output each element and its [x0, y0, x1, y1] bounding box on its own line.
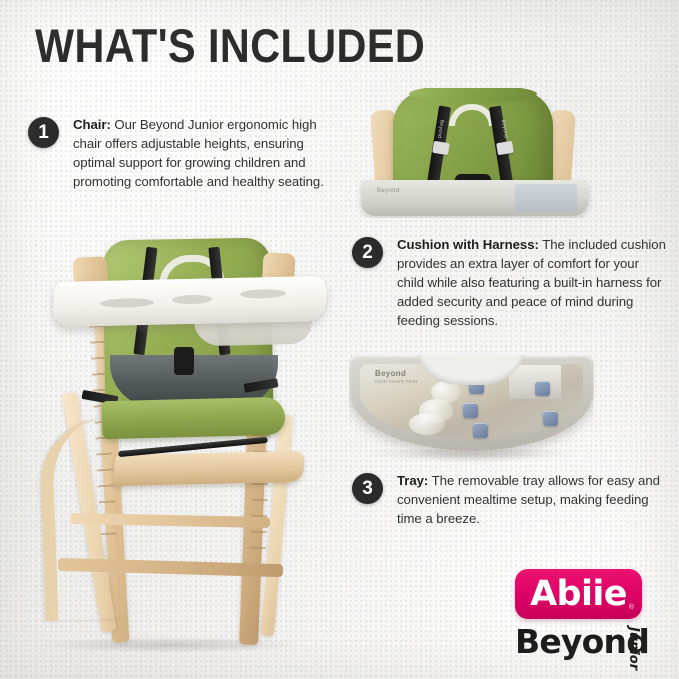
- list-item-text: Cushion with Harness: The included cushi…: [397, 236, 668, 330]
- cushion-harness-buckle-left: [432, 141, 450, 155]
- chair-tray: [53, 276, 326, 327]
- list-item-body: The removable tray allows for easy and c…: [397, 473, 660, 526]
- list-item-lead: Tray:: [397, 473, 428, 488]
- list-item-text: Tray: The removable tray allows for easy…: [397, 472, 662, 529]
- list-item-lead: Chair:: [73, 117, 111, 132]
- page-title: WHAT'S INCLUDED: [35, 22, 425, 69]
- abiie-wordmark: Abiie: [530, 577, 627, 612]
- tray-dimple: [100, 298, 154, 308]
- tray-dimple: [240, 289, 286, 299]
- step-badge-1: 1: [28, 117, 59, 148]
- cushion-with-harness-photo: Beyond Beyond Beyond: [349, 88, 597, 218]
- brand-logo: Abiie ® Beyond Junior: [515, 569, 665, 667]
- tray-brand-text: Beyond: [375, 369, 406, 378]
- cushion-harness-buckle-right: [496, 141, 514, 155]
- abiie-logo-badge: Abiie ®: [515, 569, 642, 619]
- list-item-tray: 3 Tray: The removable tray allows for ea…: [352, 472, 662, 529]
- registered-trademark-mark: ®: [629, 604, 634, 611]
- tray-reflection-icon: [543, 411, 558, 426]
- tray-photo: Beyond HIGH CHAIR TRAY: [349, 355, 594, 465]
- tray-dimple: [172, 294, 212, 304]
- list-item-body: Our Beyond Junior ergonomic high chair o…: [73, 117, 324, 189]
- list-item-lead: Cushion with Harness:: [397, 237, 539, 252]
- list-item-chair: 1 Chair: Our Beyond Junior ergonomic hig…: [28, 116, 340, 192]
- tray-reflection-icon: [463, 403, 478, 418]
- step-badge-3: 3: [352, 473, 383, 504]
- product-line-row: Beyond Junior: [515, 625, 665, 667]
- junior-wordmark: Junior: [626, 627, 641, 670]
- step-badge-2: 2: [352, 237, 383, 268]
- infographic-canvas: WHAT'S INCLUDED: [0, 0, 679, 679]
- tray-reflection-icon: [473, 423, 488, 438]
- chair-harness-crotch-strap: [174, 347, 194, 375]
- tray-brand-subtext: HIGH CHAIR TRAY: [375, 379, 418, 384]
- list-item-text: Chair: Our Beyond Junior ergonomic high …: [73, 116, 340, 192]
- cushion-tray-brand-text: Beyond: [377, 188, 400, 194]
- list-item-cushion: 2 Cushion with Harness: The included cus…: [352, 236, 668, 330]
- chair-seat-cushion: [102, 397, 286, 439]
- tray-reflection-blob: [409, 413, 445, 435]
- cushion-photo-tray-panel: [515, 184, 577, 212]
- chair-footrest-board: [113, 451, 305, 486]
- chair-contact-shadow: [36, 637, 304, 653]
- high-chair-photo: [18, 205, 344, 657]
- tray-reflection-icon: [535, 381, 550, 396]
